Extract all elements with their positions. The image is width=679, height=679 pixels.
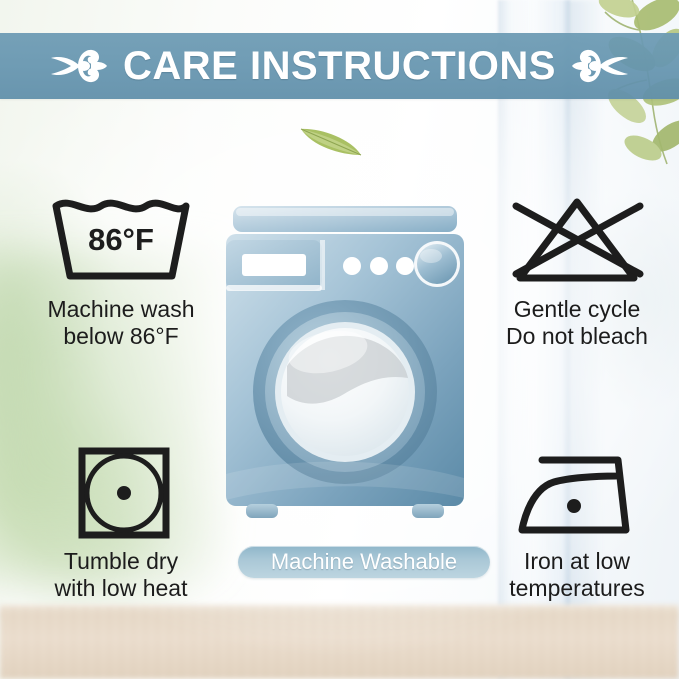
banner: CARE INSTRUCTIONS xyxy=(0,33,679,99)
care-item-caption: Iron at low temperatures xyxy=(509,548,645,602)
care-item-do-not-bleach: Gentle cycle Do not bleach xyxy=(474,194,679,350)
tumble-dry-low-icon xyxy=(46,446,196,540)
do-not-bleach-triangle-icon xyxy=(502,194,652,288)
washing-machine-illustration xyxy=(224,206,466,536)
wash-temperature-value: 86°F xyxy=(88,222,154,257)
care-item-machine-wash: 86°F Machine wash below 86°F xyxy=(18,194,224,350)
control-dots xyxy=(343,257,414,275)
fleur-de-lis-ornament-left-icon xyxy=(47,44,109,88)
care-instructions-infographic: CARE INSTRUCTIONS 86°F Machine wash belo… xyxy=(0,0,679,679)
iron-low-heat-icon xyxy=(502,446,652,540)
care-item-tumble-dry: Tumble dry with low heat xyxy=(18,446,224,602)
fleur-de-lis-ornament-right-icon xyxy=(570,44,632,88)
machine-washable-badge: Machine Washable xyxy=(238,546,490,578)
care-item-caption: Gentle cycle Do not bleach xyxy=(506,296,648,350)
care-item-iron-low: Iron at low temperatures xyxy=(474,446,679,602)
floating-leaf-icon xyxy=(298,124,364,158)
page-title: CARE INSTRUCTIONS xyxy=(123,46,556,86)
care-item-caption: Tumble dry with low heat xyxy=(55,548,188,602)
wash-tub-icon: 86°F xyxy=(46,194,196,288)
care-item-caption: Machine wash below 86°F xyxy=(47,296,194,350)
badge-label: Machine Washable xyxy=(271,551,457,573)
